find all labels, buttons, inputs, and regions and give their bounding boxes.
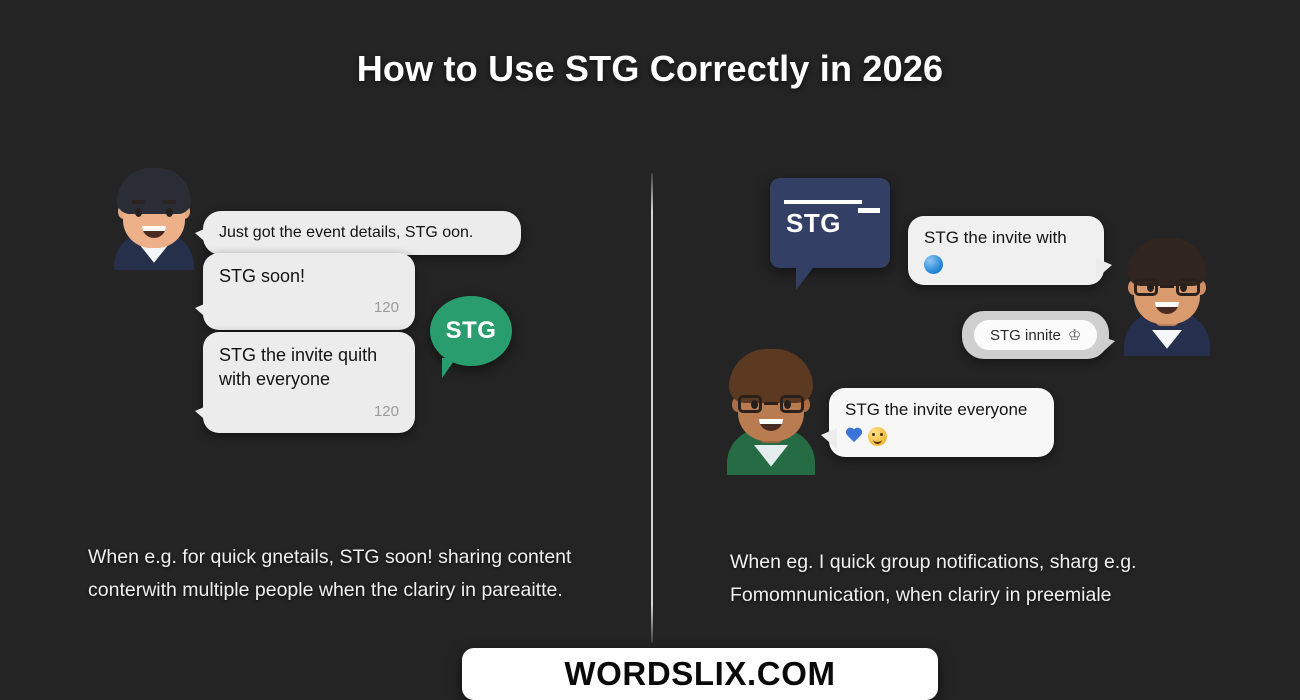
- avatar-hair: [117, 168, 191, 214]
- chat-bubble-text: STG the invite quith with everyone: [219, 345, 377, 389]
- chat-bubble-left-2[interactable]: STG soon! 120: [203, 253, 415, 330]
- stg-logo-label: STG: [786, 208, 841, 239]
- avatar-person-glasses-navy-vest: [1118, 228, 1216, 356]
- chat-bubble-right-2[interactable]: STG innite ♔: [962, 311, 1109, 359]
- page-title: How to Use STG Correctly in 2026: [0, 48, 1300, 90]
- chat-bubble-text: STG innite: [990, 327, 1061, 344]
- left-panel-caption: When e.g. for quick gnetails, STG soon! …: [88, 541, 588, 607]
- glasses-icon: [1132, 278, 1202, 296]
- blue-heart-icon: [845, 428, 863, 445]
- stg-logo-bar-right: [858, 208, 880, 213]
- stg-logo-green-bubble[interactable]: STG: [430, 296, 512, 366]
- avatar-eye-left: [751, 400, 758, 409]
- avatar-eye-right: [784, 400, 791, 409]
- blue-circle-icon: [924, 255, 943, 274]
- crown-icon: ♔: [1068, 326, 1081, 344]
- chat-bubble-emoji-row: [924, 255, 1088, 274]
- avatar-brow-right: [163, 200, 176, 204]
- stg-logo-label: STG: [446, 317, 497, 345]
- chat-bubble-right-1[interactable]: STG the invite with: [908, 216, 1104, 285]
- chat-bubble-text: STG the invite with: [924, 228, 1067, 247]
- avatar-person-dark-hair-navy-sweater: [108, 160, 200, 270]
- smiley-face-icon: [868, 427, 887, 446]
- infographic-canvas: How to Use STG Correctly in 2026 Just go…: [0, 0, 1300, 700]
- avatar-eye-right: [166, 208, 173, 217]
- stg-logo-bar-top: [784, 200, 862, 204]
- footer-banner[interactable]: WORDSLIX.COM: [462, 648, 938, 700]
- chat-bubble-text: STG soon!: [219, 266, 305, 286]
- right-panel-caption: When eg. I quick group notifications, sh…: [730, 546, 1200, 612]
- avatar-eye-left: [135, 208, 142, 217]
- stg-logo-blue-bubble[interactable]: STG: [770, 178, 890, 268]
- chat-bubble-inner-pill: STG innite ♔: [974, 320, 1097, 350]
- panel-divider: [651, 173, 653, 643]
- chat-bubble-timestamp: 120: [219, 298, 399, 318]
- avatar-eye-right: [1180, 283, 1187, 292]
- footer-banner-text: WORDSLIX.COM: [564, 655, 835, 693]
- avatar-person-curly-hair-green-cardigan: [722, 341, 820, 475]
- glasses-icon: [736, 395, 806, 413]
- chat-bubble-timestamp: 120: [219, 402, 399, 422]
- chat-bubble-text: STG the invite everyone: [845, 400, 1027, 419]
- chat-bubble-right-3[interactable]: STG the invite everyone: [829, 388, 1054, 457]
- avatar-brow-left: [132, 200, 145, 204]
- avatar-eye-left: [1147, 283, 1154, 292]
- chat-bubble-emoji-row: [845, 427, 1038, 446]
- chat-bubble-left-3[interactable]: STG the invite quith with everyone 120: [203, 332, 415, 433]
- chat-bubble-left-1[interactable]: Just got the event details, STG oon.: [203, 211, 521, 255]
- chat-bubble-text: Just got the event details, STG oon.: [219, 224, 473, 241]
